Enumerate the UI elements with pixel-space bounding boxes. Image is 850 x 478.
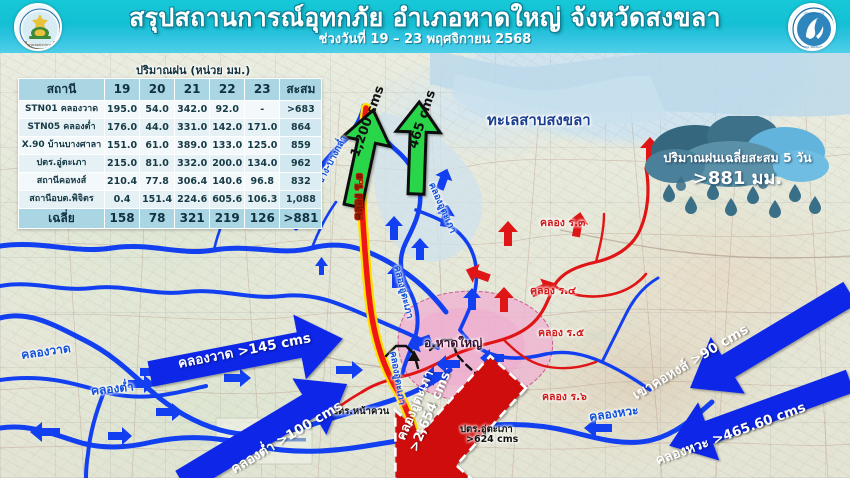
col-station: สถานี bbox=[19, 79, 105, 101]
cell-d22: 133.0 bbox=[210, 137, 245, 155]
cell-d23: 125.0 bbox=[245, 137, 280, 155]
col-day-19: 19 bbox=[105, 79, 140, 101]
cell-total: 864 bbox=[280, 119, 322, 137]
cell-d19: 215.0 bbox=[105, 155, 140, 173]
cell-d20: 54.0 bbox=[140, 101, 175, 119]
table-row: STN01 คลองวาด 195.0 54.0 342.0 92.0 - >6… bbox=[19, 101, 322, 119]
table-row: สถานีคอหงส์ 210.4 77.8 306.4 140.6 96.8 … bbox=[19, 173, 322, 191]
rainfall-table-head: สถานี 19 20 21 22 23 สะสม bbox=[19, 79, 322, 101]
cell-d21: 331.0 bbox=[175, 119, 210, 137]
cell-d19: 210.4 bbox=[105, 173, 140, 191]
rainfall-table-panel: ปริมาณฝน (หน่วย มม.) สถานี 19 20 21 22 2… bbox=[18, 78, 322, 229]
cell-total: >683 bbox=[280, 101, 322, 119]
cell-d23: 171.0 bbox=[245, 119, 280, 137]
cell-total: 832 bbox=[280, 173, 322, 191]
cell-avg-d23: 126 bbox=[245, 209, 280, 229]
cell-d19: 0.4 bbox=[105, 191, 140, 209]
canal-label-r1: คลอง ร.๑ bbox=[349, 173, 367, 220]
svg-text:กรมชลประทาน: กรมชลประทาน bbox=[804, 12, 824, 16]
cell-d20: 81.0 bbox=[140, 155, 175, 173]
cell-avg-d19: 158 bbox=[105, 209, 140, 229]
cell-station: STN05 คลองต่ำ bbox=[19, 119, 105, 137]
cell-d19: 195.0 bbox=[105, 101, 140, 119]
rainfall-table-body: STN01 คลองวาด 195.0 54.0 342.0 92.0 - >6… bbox=[19, 101, 322, 209]
table-caption: ปริมาณฝน (หน่วย มม.) bbox=[136, 61, 250, 79]
col-day-20: 20 bbox=[140, 79, 175, 101]
cell-d22: 140.6 bbox=[210, 173, 245, 191]
header-bar: กรมชลประทาน สรุปสถานการณ์อุทกภัย อำเภอหา… bbox=[0, 0, 850, 53]
cell-d19: 176.0 bbox=[105, 119, 140, 137]
cell-d22: 200.0 bbox=[210, 155, 245, 173]
rainfall-table: สถานี 19 20 21 22 23 สะสม STN01 คลองวาด … bbox=[18, 78, 322, 229]
cell-d19: 151.0 bbox=[105, 137, 140, 155]
district-label-hatyai: อ.หาดใหญ่ bbox=[424, 334, 482, 353]
cell-avg-total: >881 bbox=[280, 209, 322, 229]
cell-d23: 96.8 bbox=[245, 173, 280, 191]
cell-d20: 77.8 bbox=[140, 173, 175, 191]
cell-d21: 332.0 bbox=[175, 155, 210, 173]
garuda-seal-icon: กรมชลประทาน bbox=[14, 3, 62, 51]
page-title: สรุปสถานการณ์อุทกภัย อำเภอหาดใหญ่ จังหวั… bbox=[80, 3, 770, 33]
table-row: สถานีอบต.พิจิตร 0.4 151.4 224.6 605.6 10… bbox=[19, 191, 322, 209]
table-row: X.90 บ้านบางศาลา 151.0 61.0 389.0 133.0 … bbox=[19, 137, 322, 155]
page-subtitle: ช่วงวันที่ 19 – 23 พฤศจิกายน 2568 bbox=[80, 32, 770, 48]
canal-label-r4: คลอง ร.๔ bbox=[530, 282, 576, 299]
cell-avg-label: เฉลี่ย bbox=[19, 209, 105, 229]
canal-label-r3: คลอง ร.๓ bbox=[540, 214, 585, 231]
gate-value-utapao: >624 cms bbox=[466, 434, 518, 445]
col-day-22: 22 bbox=[210, 79, 245, 101]
rain-cloud-callout: ปริมาณฝนเฉลี่ยสะสม 5 วัน >881 มม. bbox=[635, 116, 840, 221]
royal-irrigation-department-logo-icon: กรมชลประทาน ROYAL IRRIGATION bbox=[788, 3, 836, 51]
col-total: สะสม bbox=[280, 79, 322, 101]
cell-station: STN01 คลองวาด bbox=[19, 101, 105, 119]
cloud-label-line2: >881 มม. bbox=[635, 163, 840, 192]
cell-station: สถานีคอหงส์ bbox=[19, 173, 105, 191]
infographic-root: 1,200 cms 465 cms คลองวาด >145 cms คลองต… bbox=[0, 0, 850, 478]
table-row: ปตร.อู่ตะเภา 215.0 81.0 332.0 200.0 134.… bbox=[19, 155, 322, 173]
svg-text:กรมชลประทาน: กรมชลประทาน bbox=[28, 43, 53, 47]
col-day-23: 23 bbox=[245, 79, 280, 101]
table-header-row: สถานี 19 20 21 22 23 สะสม bbox=[19, 79, 322, 101]
cell-total: 859 bbox=[280, 137, 322, 155]
table-row: STN05 คลองต่ำ 176.0 44.0 331.0 142.0 171… bbox=[19, 119, 322, 137]
cell-total: 962 bbox=[280, 155, 322, 173]
rainfall-table-foot: เฉลี่ย 158 78 321 219 126 >881 bbox=[19, 209, 322, 229]
table-footer-row: เฉลี่ย 158 78 321 219 126 >881 bbox=[19, 209, 322, 229]
cell-station: X.90 บ้านบางศาลา bbox=[19, 137, 105, 155]
cell-d21: 389.0 bbox=[175, 137, 210, 155]
cell-station: ปตร.อู่ตะเภา bbox=[19, 155, 105, 173]
cell-avg-d20: 78 bbox=[140, 209, 175, 229]
cell-d23: 106.3 bbox=[245, 191, 280, 209]
cell-d20: 61.0 bbox=[140, 137, 175, 155]
cell-d22: 92.0 bbox=[210, 101, 245, 119]
cell-d23: 134.0 bbox=[245, 155, 280, 173]
cell-d21: 224.6 bbox=[175, 191, 210, 209]
cell-d20: 44.0 bbox=[140, 119, 175, 137]
cell-d21: 342.0 bbox=[175, 101, 210, 119]
canal-label-r6: คลอง ร.๖ bbox=[542, 388, 587, 405]
cell-avg-d21: 321 bbox=[175, 209, 210, 229]
cell-d23: - bbox=[245, 101, 280, 119]
canal-label-r5: คลอง ร.๕ bbox=[538, 324, 584, 341]
cell-d20: 151.4 bbox=[140, 191, 175, 209]
cell-total: 1,088 bbox=[280, 191, 322, 209]
col-day-21: 21 bbox=[175, 79, 210, 101]
cell-d22: 142.0 bbox=[210, 119, 245, 137]
lake-label: ทะเลสาบสงขลา bbox=[487, 108, 591, 132]
cell-d21: 306.4 bbox=[175, 173, 210, 191]
cell-avg-d22: 219 bbox=[210, 209, 245, 229]
cell-d22: 605.6 bbox=[210, 191, 245, 209]
cell-station: สถานีอบต.พิจิตร bbox=[19, 191, 105, 209]
svg-text:ROYAL IRRIGATION: ROYAL IRRIGATION bbox=[800, 45, 828, 49]
